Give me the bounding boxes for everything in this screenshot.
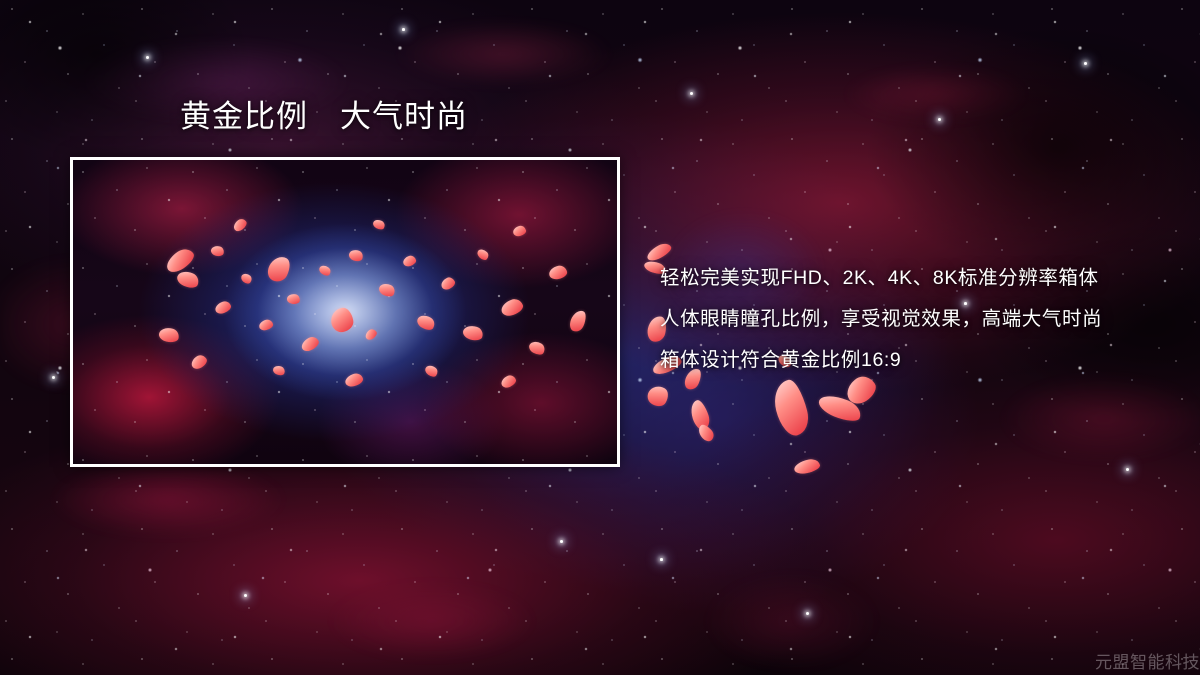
galaxy-image-frame	[70, 157, 620, 467]
body-line-2: 人体眼睛瞳孔比例，享受视觉效果，高端大气时尚	[660, 299, 1102, 340]
slide-canvas: 黄金比例 大气时尚 轻松完美实现FHD、2K、4K、8K标准分辨率箱体 人体眼睛…	[0, 0, 1200, 675]
body-line-1: 轻松完美实现FHD、2K、4K、8K标准分辨率箱体	[660, 258, 1102, 299]
page-title: 黄金比例 大气时尚	[180, 99, 468, 135]
body-copy: 轻松完美实现FHD、2K、4K、8K标准分辨率箱体 人体眼睛瞳孔比例，享受视觉效…	[660, 258, 1102, 381]
body-line-3: 箱体设计符合黄金比例16:9	[660, 340, 1102, 381]
watermark: 元盟智能科技	[1095, 648, 1200, 673]
